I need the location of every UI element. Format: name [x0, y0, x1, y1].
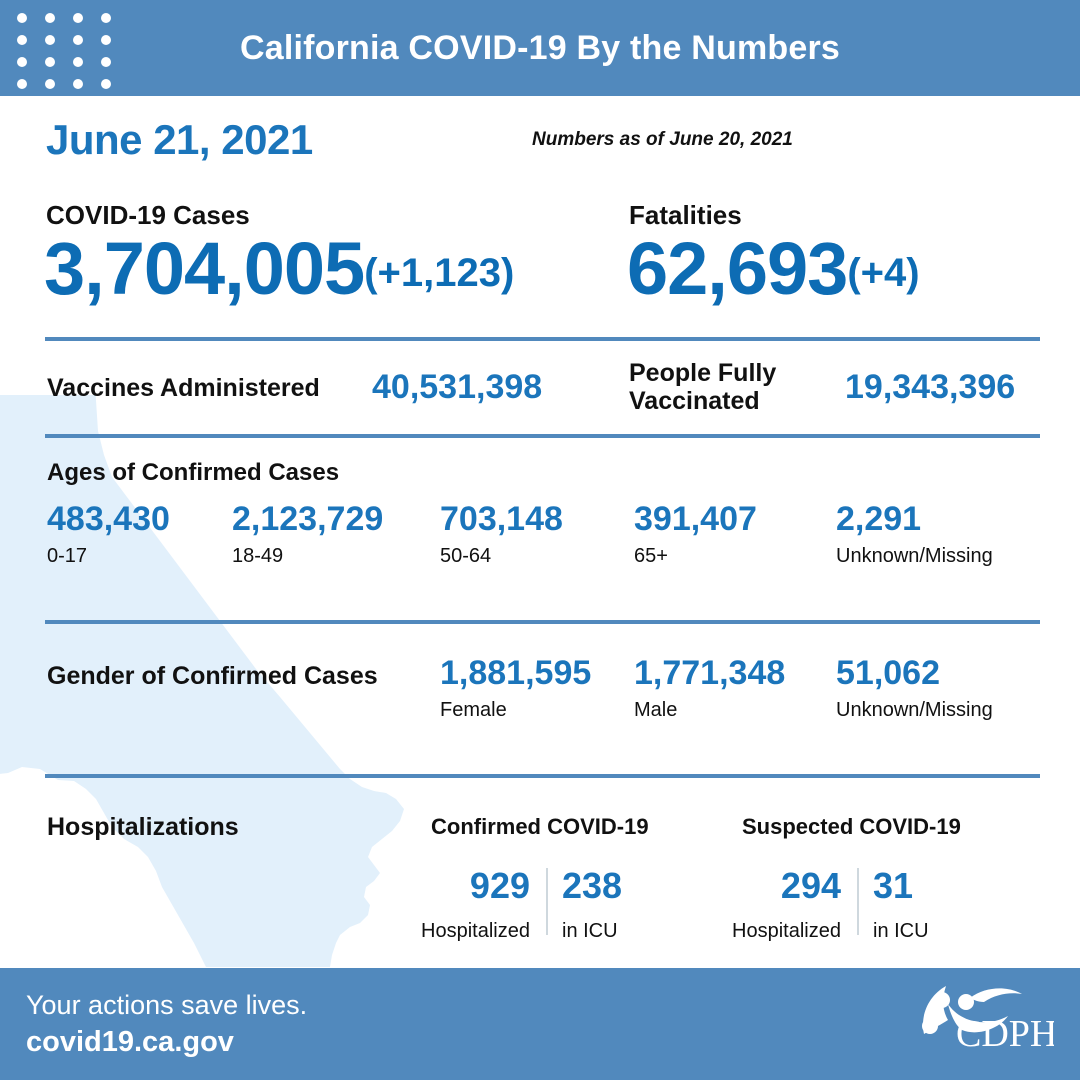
hospitalization-value: 31 [873, 868, 963, 904]
cdph-logo-icon: CDPH [912, 976, 1054, 1072]
gender-cell: 1,771,348 Male [634, 656, 785, 720]
age-group-caption: 50-64 [440, 546, 563, 566]
hospitalizations-section-title: Hospitalizations [47, 813, 239, 842]
hospitalization-value: 294 [711, 868, 841, 904]
age-group-cell: 391,407 65+ [634, 502, 757, 566]
age-group-value: 2,123,729 [232, 502, 383, 536]
divider-rule [45, 337, 1040, 341]
fully-vaccinated-label-line2: Vaccinated [629, 387, 760, 415]
suspected-covid-group-title: Suspected COVID-19 [742, 814, 961, 840]
fully-vaccinated-value: 19,343,396 [845, 368, 1015, 407]
gender-section-title: Gender of Confirmed Cases [47, 662, 378, 691]
ages-section-title: Ages of Confirmed Cases [47, 459, 339, 487]
hospitalization-caption: in ICU [873, 921, 963, 941]
age-group-value: 703,148 [440, 502, 563, 536]
fatalities-value-group: 62,693(+4) [627, 226, 920, 311]
hospitalization-value: 929 [400, 868, 530, 904]
age-group-caption: 0-17 [47, 546, 170, 566]
gender-cell: 1,881,595 Female [440, 656, 591, 720]
hospitalization-cell: 31 in ICU [873, 868, 963, 941]
hospitalization-caption: Hospitalized [711, 921, 841, 941]
age-group-cell: 703,148 50-64 [440, 502, 563, 566]
divider-rule [45, 774, 1040, 778]
gender-value: 1,881,595 [440, 656, 591, 690]
infographic-page: California COVID-19 By the Numbers June … [0, 0, 1080, 1080]
hospitalization-divider [546, 868, 548, 935]
gender-caption: Unknown/Missing [836, 700, 993, 720]
fatalities-delta: (+4) [847, 251, 919, 295]
cases-value-group: 3,704,005(+1,123) [44, 226, 514, 311]
gender-cell: 51,062 Unknown/Missing [836, 656, 993, 720]
hospitalization-caption: in ICU [562, 921, 652, 941]
age-group-cell: 2,291 Unknown/Missing [836, 502, 993, 566]
confirmed-covid-group-title: Confirmed COVID-19 [431, 814, 649, 840]
age-group-value: 2,291 [836, 502, 993, 536]
cases-total: 3,704,005 [44, 227, 364, 310]
gender-value: 51,062 [836, 656, 993, 690]
gender-value: 1,771,348 [634, 656, 785, 690]
fully-vaccinated-label: People Fully Vaccinated [629, 359, 776, 415]
main-content: June 21, 2021 Numbers as of June 20, 202… [0, 96, 1080, 968]
hospitalization-caption: Hospitalized [400, 921, 530, 941]
hospitalization-divider [857, 868, 859, 935]
gender-caption: Female [440, 700, 591, 720]
age-group-caption: Unknown/Missing [836, 546, 993, 566]
age-group-value: 483,430 [47, 502, 170, 536]
hospitalization-cell: 929 Hospitalized [400, 868, 530, 941]
age-group-value: 391,407 [634, 502, 757, 536]
age-group-caption: 65+ [634, 546, 757, 566]
vaccines-administered-label: Vaccines Administered [47, 374, 320, 402]
age-group-cell: 2,123,729 18-49 [232, 502, 383, 566]
page-title: California COVID-19 By the Numbers [0, 0, 1080, 96]
vaccines-administered-value: 40,531,398 [372, 368, 542, 407]
report-date: June 21, 2021 [46, 116, 313, 164]
footer-tagline: Your actions save lives. [26, 990, 307, 1021]
fatalities-total: 62,693 [627, 227, 847, 310]
footer-url[interactable]: covid19.ca.gov [26, 1026, 234, 1059]
hospitalization-value: 238 [562, 868, 652, 904]
age-group-caption: 18-49 [232, 546, 383, 566]
divider-rule [45, 620, 1040, 624]
hospitalization-cell: 294 Hospitalized [711, 868, 841, 941]
header-bar: California COVID-19 By the Numbers [0, 0, 1080, 96]
hospitalization-cell: 238 in ICU [562, 868, 652, 941]
fully-vaccinated-label-line1: People Fully [629, 359, 776, 387]
age-group-cell: 483,430 0-17 [47, 502, 170, 566]
divider-rule [45, 434, 1040, 438]
gender-caption: Male [634, 700, 785, 720]
footer-bar: Your actions save lives. covid19.ca.gov … [0, 968, 1080, 1080]
cases-delta: (+1,123) [364, 251, 514, 295]
data-as-of-note: Numbers as of June 20, 2021 [532, 129, 793, 151]
cdph-logo-text: CDPH [956, 1013, 1054, 1055]
